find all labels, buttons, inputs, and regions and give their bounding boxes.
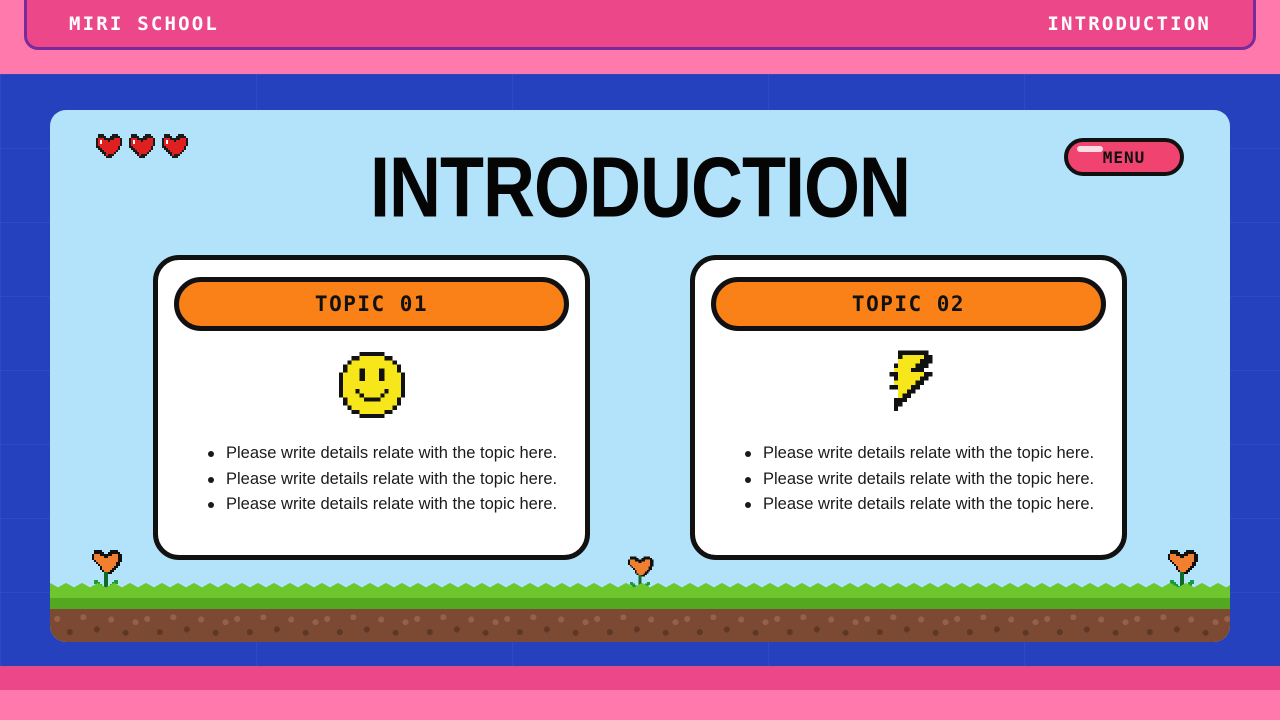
ground [50,590,1230,642]
grass-layer [50,590,1230,609]
dirt-layer [50,609,1230,642]
slide-root: MIRI SCHOOL INTRODUCTION MENU [0,0,1280,720]
bottom-pink-light-band [0,690,1280,720]
list-item: Please write details relate with the top… [745,467,1106,493]
topic-icon [881,349,937,421]
lightning-bolt-icon [881,349,937,421]
topic-cards: TOPIC 01 Please write details relate wit… [50,255,1230,560]
topic-pill[interactable]: TOPIC 02 [711,277,1106,331]
topic-bullets: Please write details relate with the top… [174,441,569,518]
topic-pill-label: TOPIC 01 [315,292,428,316]
smiley-face-icon [339,352,405,418]
list-item: Please write details relate with the top… [745,492,1106,518]
list-item: Please write details relate with the top… [208,492,569,518]
list-item: Please write details relate with the top… [745,441,1106,467]
brand-name: MIRI SCHOOL [69,13,219,35]
topic-bullets: Please write details relate with the top… [711,441,1106,518]
slide-stage: MENU INTRODUCTION TOPIC 01 [50,110,1230,642]
topic-card: TOPIC 02 Please write details relate wit… [690,255,1127,560]
topic-icon [339,349,405,421]
list-item: Please write details relate with the top… [208,467,569,493]
topic-card: TOPIC 01 Please write details relate wit… [153,255,590,560]
page-title: INTRODUCTION [50,140,1230,237]
header-bar: MIRI SCHOOL INTRODUCTION [24,0,1256,50]
topic-pill-label: TOPIC 02 [852,292,965,316]
list-item: Please write details relate with the top… [208,441,569,467]
menu-button-label: MENU [1103,148,1146,167]
topic-pill[interactable]: TOPIC 01 [174,277,569,331]
bottom-pink-dark-band [0,666,1280,690]
section-name: INTRODUCTION [1047,13,1211,35]
grass-edge [50,583,1230,592]
